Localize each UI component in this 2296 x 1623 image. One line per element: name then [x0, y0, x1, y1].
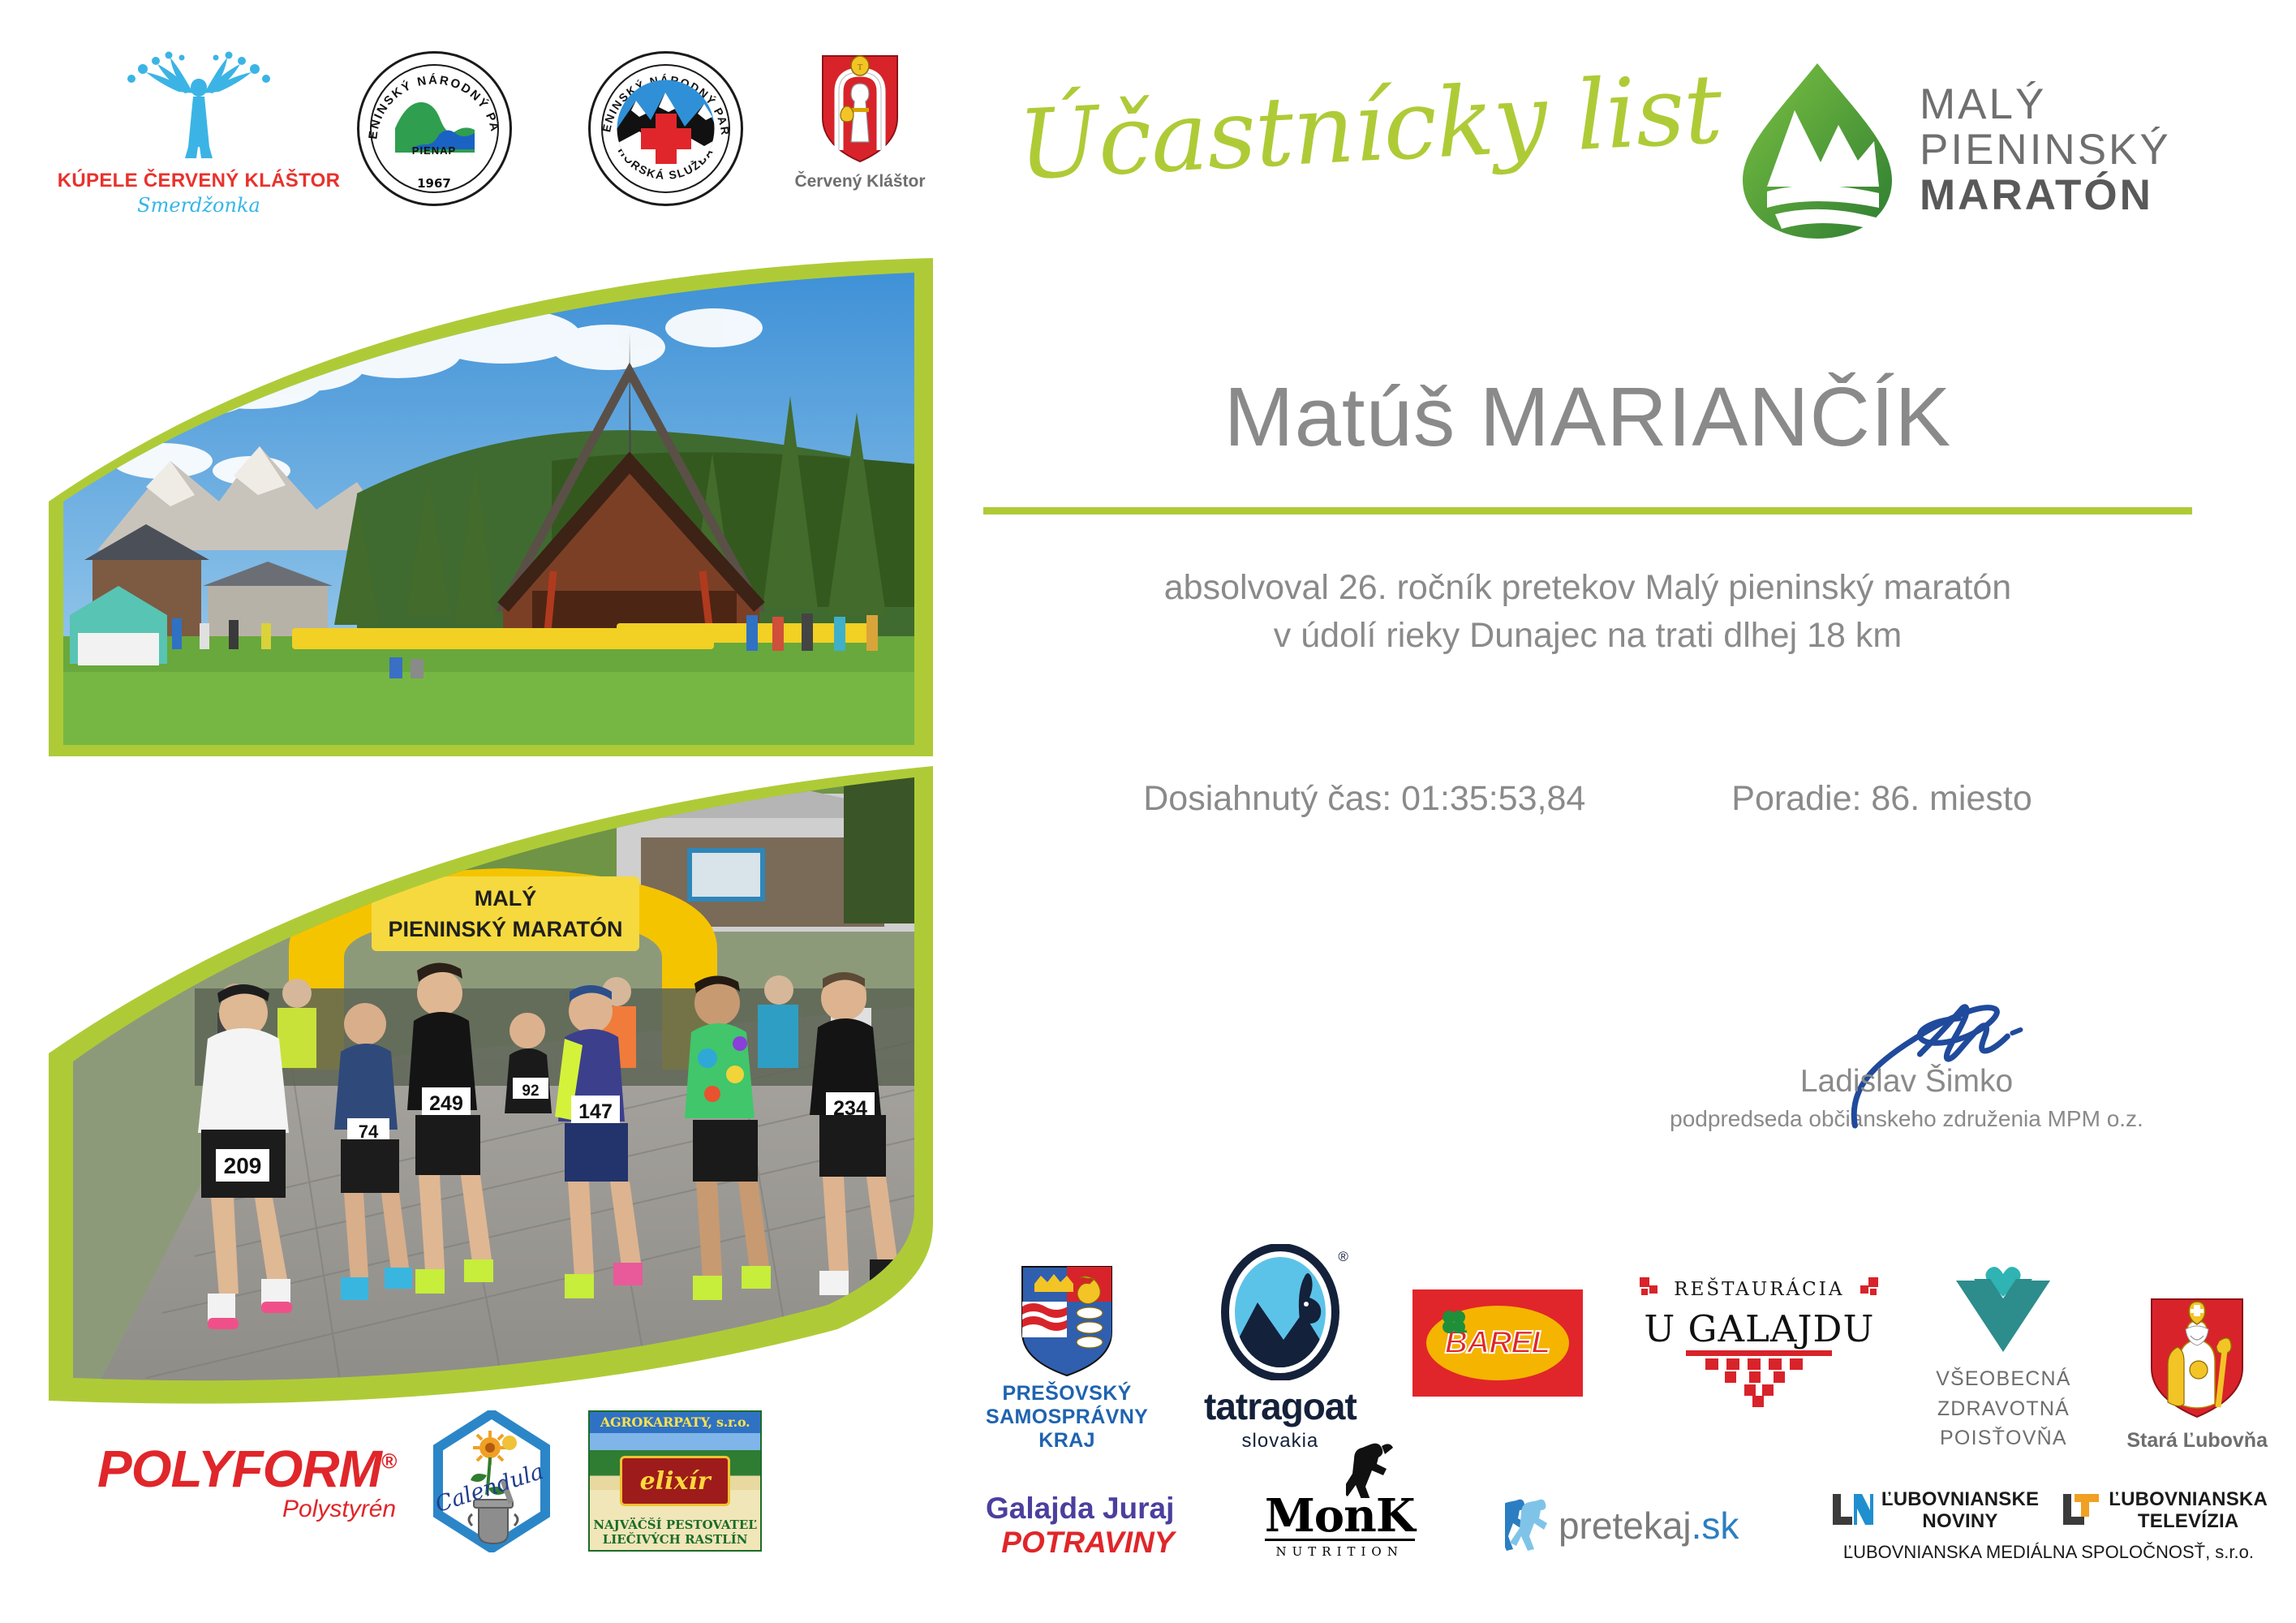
participant-name: Matúš MARIANČÍK: [983, 369, 2192, 465]
svg-text:147: 147: [578, 1100, 613, 1123]
sponsor-wordmark: U GALAJDU: [1644, 1307, 1874, 1350]
sponsor-polyform: POLYFORM® Polystyrén: [97, 1439, 396, 1523]
folk-ornament-band: [1678, 1350, 1840, 1413]
svg-text:209: 209: [224, 1153, 262, 1178]
partner-logo-kupele-cerveny-klastor: KÚPELE ČERVENÝ KLÁŠTOR Smerdžonka: [81, 45, 316, 217]
sponsor-label: Stará Ľubovňa: [2126, 1429, 2268, 1453]
coat-of-arms-presov-icon: [1020, 1264, 1114, 1382]
running-monk-icon: [1346, 1440, 1398, 1502]
sponsor-line-2: POTRAVINY: [986, 1526, 1174, 1560]
partner-logo-cerveny-klastor: T Červený Kláštor: [779, 45, 941, 192]
partner-label: Červený Kláštor: [794, 172, 925, 192]
finish-time: Dosiahnutý čas: 01:35:53,84: [1143, 779, 1585, 819]
pienap-year: 1967: [359, 176, 510, 191]
sponsor-wordmark: pretekaj.sk: [1559, 1504, 1739, 1548]
goat-mountain-oval-icon: ®: [1215, 1244, 1345, 1384]
partner-logo-horska-sluzba: PIENINSKÝ NÁRODNÝ PARK HORSKÁ SLUŽBA: [552, 45, 779, 206]
barel-logo-box: BAREL: [1412, 1289, 1583, 1397]
pretekaj-word: pretekaj: [1559, 1505, 1692, 1547]
sponsor-subtitle: slovakia: [1242, 1430, 1319, 1453]
partner-subname: Smerdžonka: [137, 194, 260, 217]
seal-mountain-redcross-icon: PIENINSKÝ NÁRODNÝ PARK HORSKÁ SLUŽBA: [588, 51, 743, 206]
certificate-page: KÚPELE ČERVENÝ KLÁŠTOR Smerdžonka PIENIN…: [0, 0, 2296, 1623]
sponsor-stara-lubovna: Stará Ľubovňa: [2126, 1233, 2268, 1453]
media-footer: ĽUBOVNIANSKA MEDIÁLNA SPOLOČNOSŤ, s.r.o.: [1829, 1542, 2268, 1563]
svg-text:74: 74: [359, 1121, 379, 1142]
sponsor-row-left: POLYFORM® Polystyrén: [97, 1380, 933, 1582]
caption-line-3: POISŤOVŇA: [1936, 1423, 2070, 1453]
registered-symbol: ®: [381, 1449, 396, 1474]
folk-ornament-icon: [1638, 1274, 1666, 1306]
sponsor-caption: PREŠOVSKÝ SAMOSPRÁVNY KRAJ: [986, 1382, 1148, 1453]
media-line-2: TELEVÍZIA: [2109, 1511, 2268, 1533]
brand-line-2: PIENINSKÝ: [1920, 127, 2171, 173]
sponsor-tatragoat: ® tatragoat slovakia: [1204, 1233, 1357, 1453]
caption-line-1: PREŠOVSKÝ: [986, 1382, 1148, 1406]
partner-name: KÚPELE ČERVENÝ KLÁŠTOR: [58, 170, 340, 192]
media-line-1: ĽUBOVNIANSKA: [2109, 1489, 2268, 1511]
sponsor-galajda-juraj-potraviny: Galajda Juraj POTRAVINY: [986, 1492, 1174, 1560]
signature-block: Ladislav Šimko podpredseda občianskeho z…: [1623, 986, 2191, 1132]
description-line-1: absolvoval 26. ročník pretekov Malý pien…: [983, 564, 2192, 612]
sponsor-calendula: Calendula: [433, 1410, 551, 1552]
sponsor-top-line: AGROKARPATY, s.r.o. PLAVNICA: [590, 1412, 760, 1433]
sponsor-row-main: PREŠOVSKÝ SAMOSPRÁVNY KRAJ: [986, 1233, 2268, 1453]
elixir-badge: elixír: [620, 1456, 730, 1506]
sponsor-presovsky-samospravny-kraj: PREŠOVSKÝ SAMOSPRÁVNY KRAJ: [986, 1233, 1148, 1453]
sponsor-line-1: Galajda Juraj: [986, 1492, 1174, 1526]
svg-text:92: 92: [522, 1083, 539, 1100]
ln-monogram-icon: [1829, 1489, 1875, 1534]
page-title: Účastnícky list: [1015, 53, 1724, 201]
rank-place: Poradie: 86. miesto: [1731, 779, 2032, 819]
sponsor-lubovnianska-medialna-spolocnost: ĽUBOVNIANSKE NOVINY ĽUBOVNIANSKA TELEVÍZ…: [1829, 1489, 2268, 1563]
media-label: ĽUBOVNIANSKA TELEVÍZIA: [2109, 1489, 2268, 1533]
partner-logo-row: KÚPELE ČERVENÝ KLÁŠTOR Smerdžonka PIENIN…: [81, 45, 941, 256]
brand-line-1: MALÝ: [1920, 82, 2171, 127]
sponsor-pretekaj-sk[interactable]: pretekaj.sk: [1505, 1496, 1739, 1556]
sponsor-vseobecna-zdravotna-poistovna: VŠEOBECNÁ ZDRAVOTNÁ POISŤOVŇA: [1936, 1233, 2070, 1453]
result-row: Dosiahnutý čas: 01:35:53,84 Poradie: 86.…: [983, 779, 2192, 819]
media-item-televizia: ĽUBOVNIANSKA TELEVÍZIA: [2060, 1489, 2268, 1534]
media-line-2: NOVINY: [1881, 1511, 2039, 1533]
clover-icon: [1438, 1307, 1470, 1344]
polyform-word: POLYFORM: [97, 1440, 381, 1498]
sponsor-row-bottom: Galajda Juraj POTRAVINY MonK NUTRITION: [986, 1461, 2268, 1591]
folk-ornament-icon-right: [1852, 1274, 1880, 1306]
two-runners-icon: [1505, 1496, 1549, 1556]
caption-line-2: LIEČIVÝCH RASTLÍN: [590, 1532, 760, 1547]
arch-text-line1: MALÝ: [475, 885, 537, 911]
sponsor-wordmark: POLYFORM®: [97, 1439, 396, 1499]
chevron-heart-icon: [1953, 1261, 2053, 1364]
caption-line-2: SAMOSPRÁVNY: [986, 1406, 1148, 1429]
svg-text:249: 249: [429, 1092, 463, 1115]
sponsor-subtitle: NUTRITION: [1265, 1544, 1415, 1559]
title-divider: [983, 507, 2192, 514]
seal-mountain-river-icon: PIENINSKÝ NÁRODNÝ PARK PIENAP 1967: [357, 51, 512, 206]
media-label: ĽUBOVNIANSKE NOVINY: [1881, 1489, 2039, 1533]
sponsor-agrokarpaty-plavnica: AGROKARPATY, s.r.o. PLAVNICA elixír NAJV…: [588, 1410, 762, 1552]
coat-of-arms-monk-icon: T: [819, 54, 901, 164]
sponsor-subtitle: Polystyrén: [97, 1496, 396, 1523]
lt-monogram-icon: [2060, 1489, 2102, 1534]
partner-logo-pienap: PIENINSKÝ NÁRODNÝ PARK PIENAP 1967: [316, 45, 552, 206]
sponsor-restauracia-u-galajdu: REŠTAURÁCIA U GALAJDU: [1638, 1233, 1880, 1453]
certificate-description: absolvoval 26. ročník pretekov Malý pien…: [983, 564, 2192, 661]
pienap-word: PIENAP: [359, 144, 510, 157]
barel-ellipse: BAREL: [1426, 1306, 1569, 1380]
caption-line-2: ZDRAVOTNÁ: [1936, 1394, 2070, 1423]
sponsor-caption: NAJVÄČŠÍ PESTOVATEĽ LIEČIVÝCH RASTLÍN: [590, 1518, 760, 1547]
trademark-symbol: ®: [1338, 1249, 1348, 1265]
description-line-2: v údolí rieky Dunajec na trati dlhej 18 …: [983, 612, 2192, 660]
water-angel-icon: [114, 51, 284, 165]
media-logos-row: ĽUBOVNIANSKE NOVINY ĽUBOVNIANSKA TELEVÍZ…: [1829, 1489, 2268, 1534]
signatory-name: Ladislav Šimko: [1623, 1064, 2191, 1100]
sponsor-caption: VŠEOBECNÁ ZDRAVOTNÁ POISŤOVŇA: [1936, 1364, 2070, 1453]
coat-of-arms-bishop-icon: [2148, 1297, 2246, 1424]
sponsor-wordmark: tatragoat: [1204, 1384, 1357, 1428]
event-brand-logo: MALÝ PIENINSKÝ MARATÓN: [1736, 49, 2272, 252]
sponsor-monk-nutrition: MonK NUTRITION: [1265, 1493, 1415, 1559]
photo-collage: MALÝ PIENINSKÝ MARATÓN: [49, 258, 933, 1406]
sponsor-barel: BAREL: [1412, 1233, 1583, 1453]
runner-92: 92: [505, 1013, 552, 1113]
media-item-noviny: ĽUBOVNIANSKE NOVINY: [1829, 1489, 2039, 1534]
sponsor-top-line: REŠTAURÁCIA: [1674, 1279, 1844, 1300]
arch-text-line2: PIENINSKÝ MARATÓN: [388, 916, 622, 941]
svg-text:T: T: [858, 62, 863, 72]
venue-amphitheatre-photo: [49, 258, 933, 761]
leaf-mountain-icon: [1736, 57, 1898, 243]
caption-line-3: KRAJ: [986, 1429, 1148, 1453]
sponsor-wordmark: elixír: [640, 1467, 711, 1496]
caption-line-1: VŠEOBECNÁ: [1936, 1364, 2070, 1393]
caption-line-1: NAJVÄČŠÍ PESTOVATEĽ: [590, 1518, 760, 1532]
media-line-1: ĽUBOVNIANSKE: [1881, 1489, 2039, 1511]
brand-line-3: MARATÓN: [1920, 173, 2171, 218]
brand-wordmark: MALÝ PIENINSKÝ MARATÓN: [1920, 82, 2171, 219]
pretekaj-suffix: .sk: [1692, 1505, 1739, 1547]
